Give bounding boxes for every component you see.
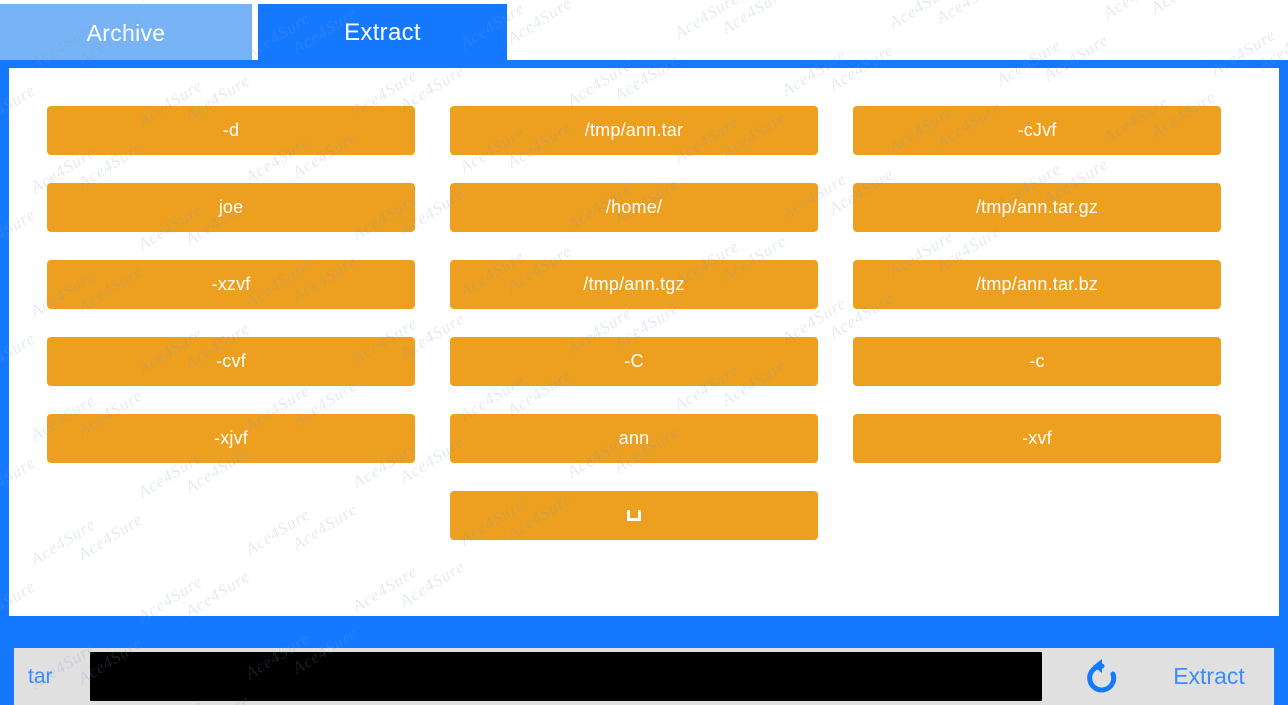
tar-command-builder: Archive Extract -d/tmp/ann.tar-cJvfjoe/h…: [0, 0, 1288, 705]
token-chip[interactable]: /tmp/ann.tar.bz: [853, 260, 1221, 309]
reset-button[interactable]: [1042, 657, 1162, 697]
token-chip[interactable]: /home/: [450, 183, 818, 232]
token-panel: -d/tmp/ann.tar-cJvfjoe/home//tmp/ann.tar…: [9, 68, 1279, 616]
token-chip[interactable]: -cJvf: [853, 106, 1221, 155]
token-chip[interactable]: ann: [450, 414, 818, 463]
token-chip[interactable]: -xzvf: [47, 260, 415, 309]
command-prefix-label: tar: [28, 665, 90, 689]
tab-archive-label: Archive: [87, 20, 166, 47]
token-label: -cJvf: [1018, 120, 1057, 141]
token-label: /tmp/ann.tgz: [583, 274, 684, 295]
token-chip[interactable]: -c: [853, 337, 1221, 386]
space-glyph-icon: [627, 510, 641, 521]
token-label: -cvf: [216, 351, 246, 372]
answer-bar: tar Extract: [14, 648, 1274, 705]
token-chip[interactable]: -xvf: [853, 414, 1221, 463]
token-label: /home/: [606, 197, 662, 218]
reset-arrow-icon: [1080, 657, 1124, 697]
token-chip[interactable]: [450, 491, 818, 540]
token-label: /tmp/ann.tar.bz: [976, 274, 1098, 295]
token-panel-frame: -d/tmp/ann.tar-cJvfjoe/home//tmp/ann.tar…: [0, 60, 1288, 625]
token-label: -C: [624, 351, 643, 372]
token-label: -xjvf: [214, 428, 248, 449]
token-chip[interactable]: -xjvf: [47, 414, 415, 463]
token-chip[interactable]: -cvf: [47, 337, 415, 386]
token-label: -xvf: [1022, 428, 1052, 449]
token-chip[interactable]: -d: [47, 106, 415, 155]
token-label: -d: [223, 120, 239, 141]
tab-extract-label: Extract: [344, 19, 421, 47]
token-chip[interactable]: -C: [450, 337, 818, 386]
token-label: -xzvf: [212, 274, 251, 295]
token-grid: -d/tmp/ann.tar-cJvfjoe/home//tmp/ann.tar…: [47, 106, 1241, 540]
token-chip[interactable]: /tmp/ann.tar.gz: [853, 183, 1221, 232]
submit-extract-button[interactable]: Extract: [1162, 663, 1274, 690]
token-label: /tmp/ann.tar.gz: [976, 197, 1098, 218]
token-label: ann: [619, 428, 650, 449]
answer-dropzone[interactable]: [90, 652, 1042, 701]
token-chip[interactable]: joe: [47, 183, 415, 232]
tab-archive[interactable]: Archive: [0, 4, 252, 62]
token-label: -c: [1029, 351, 1044, 372]
token-label: /tmp/ann.tar: [585, 120, 683, 141]
submit-extract-label: Extract: [1173, 663, 1245, 690]
token-chip[interactable]: /tmp/ann.tar: [450, 106, 818, 155]
token-chip[interactable]: /tmp/ann.tgz: [450, 260, 818, 309]
tab-bar: Archive Extract: [0, 0, 1288, 62]
token-label: joe: [219, 197, 244, 218]
tab-extract[interactable]: Extract: [258, 4, 507, 62]
